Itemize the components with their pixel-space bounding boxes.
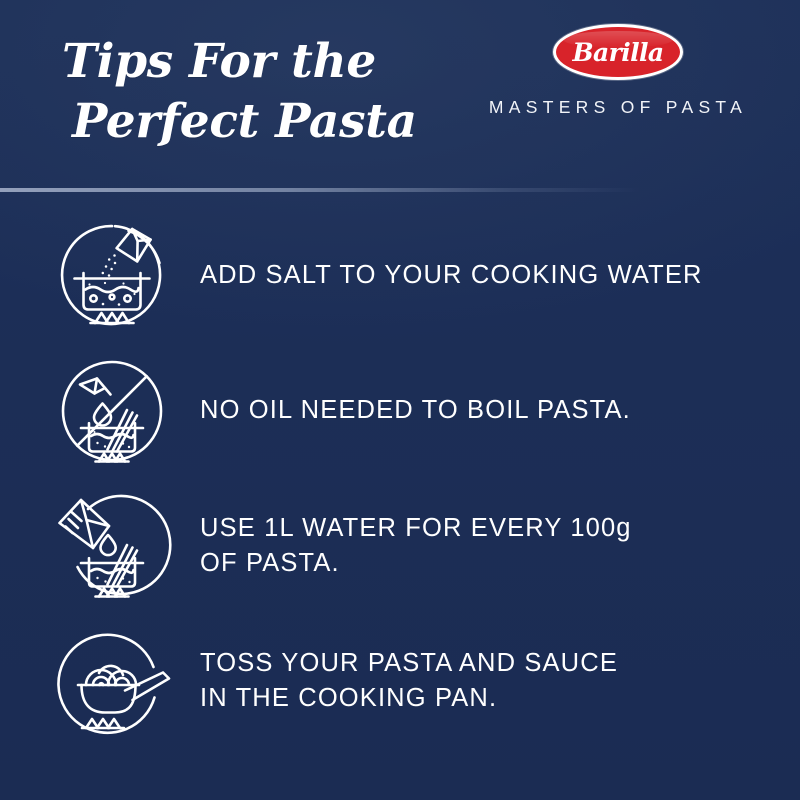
list-item: USE 1L WATER FOR EVERY 100g OF PASTA. [0,478,800,613]
list-item: NO OIL NEEDED TO BOIL PASTA. [0,343,800,478]
salt-into-pot-icon [48,217,176,335]
pan-with-pasta-icon [48,622,176,740]
water-carton-into-pot-icon [48,487,176,605]
title-line-2: Perfect Pasta [62,92,482,152]
tip-text: ADD SALT TO YOUR COOKING WATER [200,258,703,293]
title-line-1: Tips For the [62,34,376,89]
no-oil-in-pot-icon [48,352,176,470]
page-title: Tips For thePerfect Pasta [62,32,482,151]
poster-title: Tips For thePerfect Pasta [62,32,482,151]
tip-text: USE 1L WATER FOR EVERY 100g OF PASTA. [200,511,632,581]
header-divider [0,188,640,192]
barilla-logo-icon: Barilla [553,24,683,80]
barilla-logo-wordmark: Barilla [573,40,664,65]
tip-text: TOSS YOUR PASTA AND SAUCE IN THE COOKING… [200,646,618,716]
list-item: ADD SALT TO YOUR COOKING WATER [0,208,800,343]
brand-block: Barilla MASTERS OF PASTA [468,24,768,118]
tip-text: NO OIL NEEDED TO BOIL PASTA. [200,393,631,428]
poster-canvas: Tips For thePerfect Pasta Barilla MASTER… [0,0,800,800]
list-item: TOSS YOUR PASTA AND SAUCE IN THE COOKING… [0,613,800,748]
tips-list: ADD SALT TO YOUR COOKING WATER [0,208,800,748]
brand-tagline: MASTERS OF PASTA [468,97,768,118]
